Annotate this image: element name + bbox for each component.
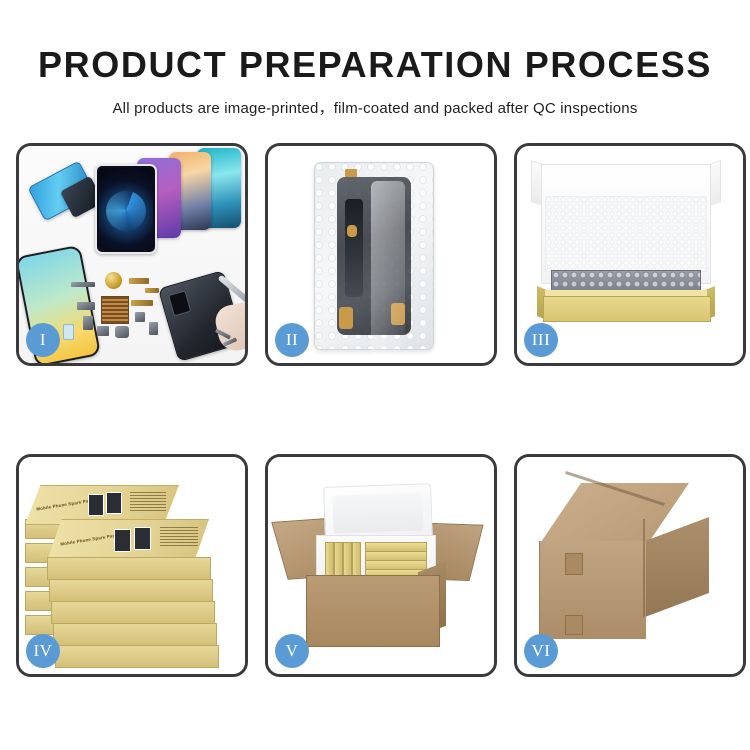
foam-lid-recess	[332, 492, 423, 533]
plastic-gloss-highlight	[371, 181, 405, 363]
phone-screen	[99, 168, 153, 250]
stacked-box-side	[47, 557, 211, 580]
printed-box-top-front: Mobile Phone Spare Parts	[47, 519, 209, 561]
carton-tape-tab	[565, 615, 583, 635]
step-badge-4: IV	[26, 634, 60, 668]
tape-piece	[347, 225, 357, 237]
flex-cable-part	[145, 288, 159, 293]
screen-flex-strip	[345, 199, 363, 297]
glass-chip-part	[63, 324, 74, 340]
small-metal-part	[97, 326, 109, 336]
box-print-label: Mobile Phone Spare Parts	[36, 497, 95, 511]
process-step-panel-3: III	[514, 143, 746, 366]
speaker-part	[115, 326, 129, 338]
stacked-box-side	[55, 645, 219, 668]
box-print-textblock	[130, 492, 166, 512]
bubble-wrap-bag	[314, 162, 434, 350]
step-badge-1: I	[26, 323, 60, 357]
gold-coil-part	[105, 272, 122, 289]
sim-tray-part	[149, 322, 158, 335]
carton-edge	[643, 519, 645, 617]
carton-tape-tab	[565, 553, 583, 575]
process-step-panel-1: I	[16, 143, 248, 366]
kraft-tray-front	[543, 296, 711, 322]
small-metal-part	[83, 316, 93, 330]
box-print-label: Mobile Phone Spare Parts	[60, 532, 119, 546]
small-metal-part	[135, 312, 145, 322]
box-print-thumbnail	[114, 529, 131, 552]
process-step-panel-4: Mobile Phone Spare Parts Mobile Phone Sp…	[16, 454, 248, 677]
carton-front	[306, 575, 440, 647]
box-print-thumbnail	[106, 492, 122, 514]
stacked-box-side	[53, 623, 217, 646]
flex-cable-part	[129, 278, 149, 284]
header: PRODUCT PREPARATION PROCESS All products…	[0, 0, 750, 118]
foam-lid	[323, 483, 433, 543]
process-step-panel-2: II	[265, 143, 497, 366]
tape-piece	[345, 169, 357, 177]
process-step-panel-6: VI	[514, 454, 746, 677]
box-print-thumbnail	[88, 494, 104, 516]
step-badge-3: III	[524, 323, 558, 357]
box-print-thumbnail	[134, 527, 151, 550]
step-badge-6: VI	[524, 634, 558, 668]
tape-piece	[339, 307, 353, 329]
foam-sheet	[545, 196, 707, 272]
screen-wallpaper-swirl	[106, 191, 146, 231]
step-badge-5: V	[275, 634, 309, 668]
camera-module	[168, 290, 191, 316]
process-step-panel-5: V	[265, 454, 497, 677]
metal-bracket-part	[71, 282, 95, 287]
phone-front-display	[95, 164, 157, 254]
shield-can-part	[77, 302, 95, 310]
page-title: PRODUCT PREPARATION PROCESS	[0, 47, 750, 83]
stacked-box-side	[49, 579, 213, 602]
carton-front-face	[539, 541, 646, 639]
page-subtitle: All products are image-printed，film-coat…	[0, 97, 750, 118]
product-preparation-infographic: PRODUCT PREPARATION PROCESS All products…	[0, 0, 750, 750]
step-badge-2: II	[275, 323, 309, 357]
box-print-textblock	[160, 527, 198, 548]
stacked-box-side	[51, 601, 215, 624]
connector-grid-part	[101, 296, 129, 324]
process-step-grid: I II	[16, 143, 738, 688]
flex-cable-part	[131, 300, 153, 306]
